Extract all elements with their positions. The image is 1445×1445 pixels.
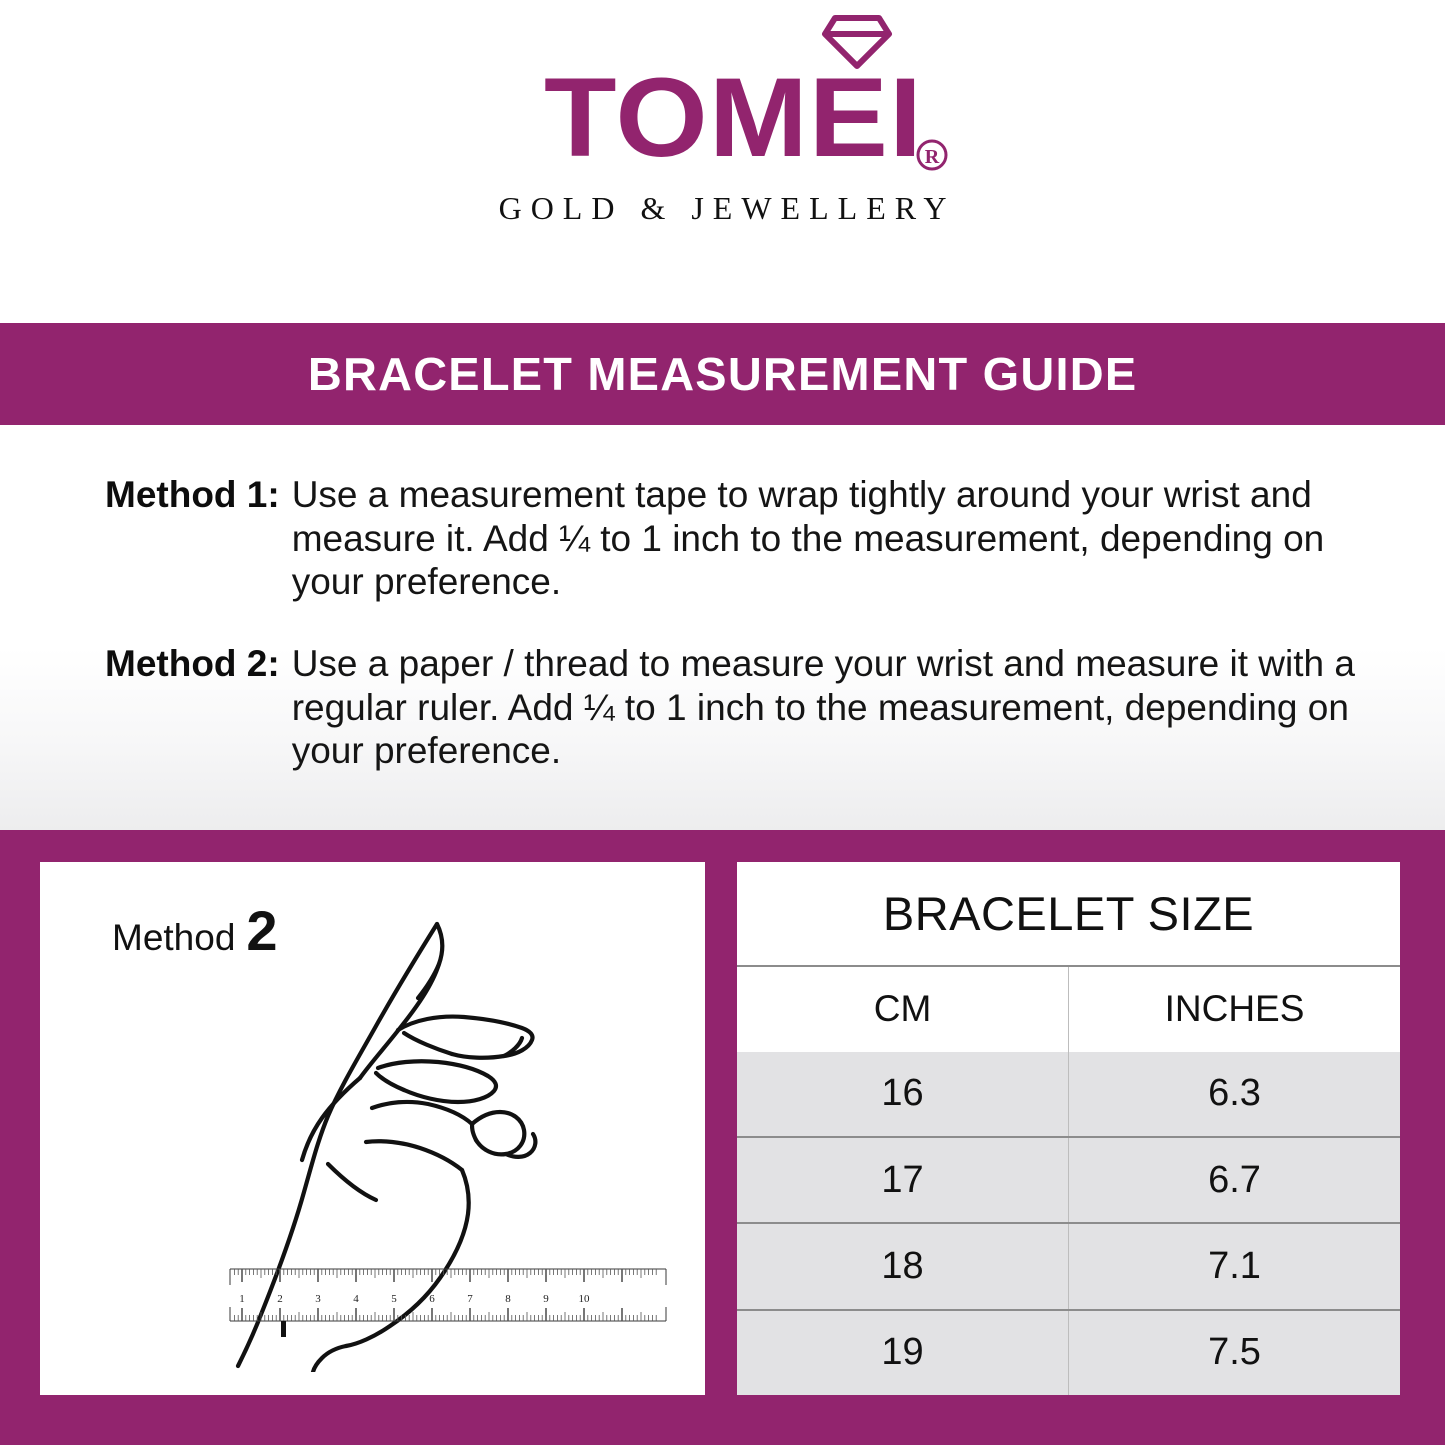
svg-text:10: 10 [579, 1293, 591, 1305]
cell-cm: 18 [737, 1224, 1069, 1308]
svg-text:6: 6 [429, 1293, 435, 1305]
cell-inches: 6.7 [1069, 1138, 1400, 1222]
brand-logo: TOMEI R GOLD & JEWELLERY [0, 62, 1445, 227]
svg-text:7: 7 [467, 1293, 473, 1305]
registered-trademark-icon: R [915, 138, 949, 172]
cell-cm: 19 [737, 1311, 1069, 1395]
cell-inches: 7.5 [1069, 1311, 1400, 1395]
method-1-text: Use a measurement tape to wrap tightly a… [292, 473, 1355, 604]
method-2-illustration-card: Method 2 [40, 862, 705, 1395]
bottom-purple-frame: Method 2 [0, 830, 1445, 1445]
bracelet-size-table: BRACELET SIZE CM INCHES 16 6.3 17 6.7 18… [737, 862, 1400, 1395]
svg-text:8: 8 [505, 1293, 511, 1305]
brand-wordmark: TOMEI [544, 62, 923, 174]
cell-cm: 16 [737, 1052, 1069, 1136]
page-title: BRACELET MEASUREMENT GUIDE [308, 347, 1137, 401]
cell-cm: 17 [737, 1138, 1069, 1222]
method-2-label: Method 2: [105, 642, 292, 686]
svg-text:3: 3 [315, 1293, 321, 1305]
size-table-title: BRACELET SIZE [737, 862, 1400, 967]
method-2-text: Use a paper / thread to measure your wri… [292, 642, 1355, 773]
svg-text:1: 1 [239, 1293, 245, 1305]
table-row: 18 7.1 [737, 1222, 1400, 1308]
logo-header: TOMEI R GOLD & JEWELLERY [0, 0, 1445, 323]
brand-tagline: GOLD & JEWELLERY [490, 190, 956, 227]
logo-wordmark-group: TOMEI R [544, 62, 902, 174]
svg-text:4: 4 [353, 1293, 359, 1305]
table-row: 16 6.3 [737, 1052, 1400, 1136]
cell-inches: 6.3 [1069, 1052, 1400, 1136]
size-table-header-row: CM INCHES [737, 967, 1400, 1051]
svg-text:R: R [925, 146, 940, 168]
column-header-cm: CM [737, 967, 1069, 1051]
diamond-icon [821, 14, 893, 70]
column-header-inches: INCHES [1069, 967, 1400, 1051]
methods-section: Method 1: Use a measurement tape to wrap… [0, 425, 1445, 830]
svg-text:9: 9 [543, 1293, 549, 1305]
svg-text:5: 5 [391, 1293, 397, 1305]
svg-text:2: 2 [277, 1293, 283, 1305]
table-row: 17 6.7 [737, 1136, 1400, 1222]
method-2-row: Method 2: Use a paper / thread to measur… [105, 642, 1355, 773]
table-row: 19 7.5 [737, 1309, 1400, 1395]
guide-title-banner: BRACELET MEASUREMENT GUIDE [0, 323, 1445, 425]
method-1-row: Method 1: Use a measurement tape to wrap… [105, 473, 1355, 604]
ruler-measure-marker [281, 1321, 286, 1337]
ruler-icon: 12345678910 [228, 1263, 668, 1343]
cell-inches: 7.1 [1069, 1224, 1400, 1308]
method-1-label: Method 1: [105, 473, 292, 517]
